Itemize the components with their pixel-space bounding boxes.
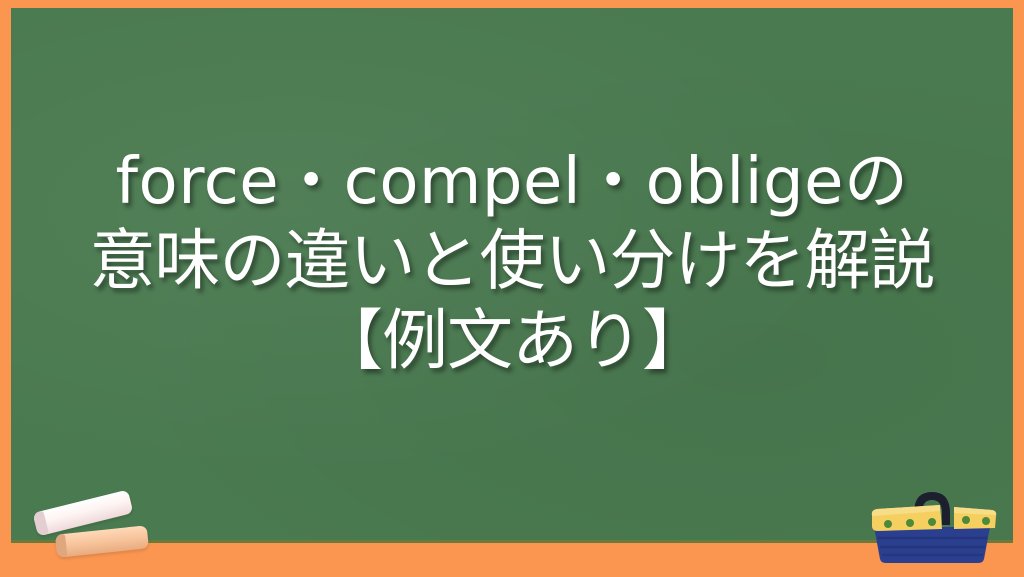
chalk-sticks-illustration — [30, 491, 160, 569]
title-line-2: 意味の違いと使い分けを解説 — [11, 227, 1013, 306]
pencil-case-illustration — [862, 483, 1002, 565]
tan-chalk-icon — [55, 525, 149, 557]
thumbnail-canvas: force・compel・obligeの 意味の違いと使い分けを解説 【例文あり… — [0, 0, 1024, 577]
page-title: force・compel・obligeの 意味の違いと使い分けを解説 【例文あり… — [11, 150, 1013, 386]
title-line-3: 【例文あり】 — [11, 307, 1013, 386]
blackboard: force・compel・obligeの 意味の違いと使い分けを解説 【例文あり… — [11, 8, 1013, 543]
title-line-1: force・compel・obligeの — [11, 150, 1013, 227]
pencil-case-icon — [862, 483, 1002, 565]
